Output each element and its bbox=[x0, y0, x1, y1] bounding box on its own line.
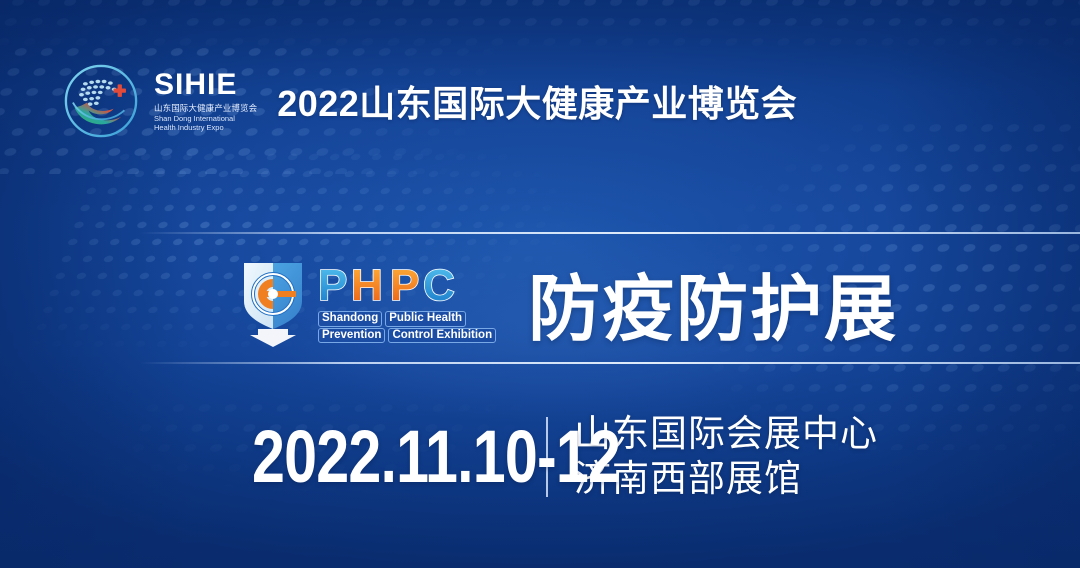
sihie-globe-cross-emblem-icon bbox=[62, 62, 140, 140]
banner-header-title: 2022山东国际大健康产业博览会 bbox=[277, 75, 797, 127]
phpc-subtitle-row-1: Shandong Public Health bbox=[318, 311, 496, 326]
svg-text:H: H bbox=[351, 262, 383, 308]
phpc-logo: P H P C Shandong Public Health Preventio… bbox=[236, 257, 496, 349]
sihie-logo-letters: SIHIE bbox=[154, 70, 257, 100]
sihie-logo-en-subtitle-line1: Shan Dong International bbox=[154, 114, 257, 123]
expo-promo-banner: SIHIE 山东国际大健康产业博览会 Shan Dong Internation… bbox=[0, 0, 1080, 568]
sihie-wordmark: SIHIE 山东国际大健康产业博览会 Shan Dong Internation… bbox=[154, 70, 257, 132]
svg-text:C: C bbox=[423, 262, 455, 308]
phpc-subtitle-public-health: Public Health bbox=[385, 311, 466, 326]
phpc-subtitle-row-2: Prevention Control Exhibition bbox=[318, 328, 496, 343]
divider-line-bottom bbox=[140, 362, 1080, 364]
svg-text:P: P bbox=[390, 262, 419, 308]
banner-footer: 2022.11.10-12 山东国际会展中心 济南西部展馆 bbox=[252, 414, 878, 499]
sihie-logo-cn-subtitle: 山东国际大健康产业博览会 bbox=[154, 103, 257, 114]
divider-line-top bbox=[140, 232, 1080, 234]
event-date-wrap: 2022.11.10-12 bbox=[252, 420, 520, 494]
phpc-subtitle-shandong: Shandong bbox=[318, 311, 382, 326]
phpc-subtitle: Shandong Public Health Prevention Contro… bbox=[318, 311, 496, 342]
svg-text:P: P bbox=[318, 262, 347, 308]
event-date: 2022.11.10-12 bbox=[252, 420, 466, 494]
phpc-subtitle-control-exhibition: Control Exhibition bbox=[388, 328, 496, 343]
sihie-logo-en-subtitle-line2: Health Industry Expo bbox=[154, 123, 257, 132]
phpc-letters: P H P C bbox=[318, 262, 478, 308]
phpc-shield-target-arrow-icon bbox=[236, 257, 310, 349]
phpc-text-block: P H P C Shandong Public Health Preventio… bbox=[318, 262, 496, 342]
banner-center-row: P H P C Shandong Public Health Preventio… bbox=[236, 250, 898, 355]
banner-header: SIHIE 山东国际大健康产业博览会 Shan Dong Internation… bbox=[62, 62, 797, 140]
red-cross-icon bbox=[113, 84, 125, 96]
phpc-subtitle-prevention: Prevention bbox=[318, 328, 385, 343]
banner-headline: 防疫防护展 bbox=[528, 250, 898, 355]
